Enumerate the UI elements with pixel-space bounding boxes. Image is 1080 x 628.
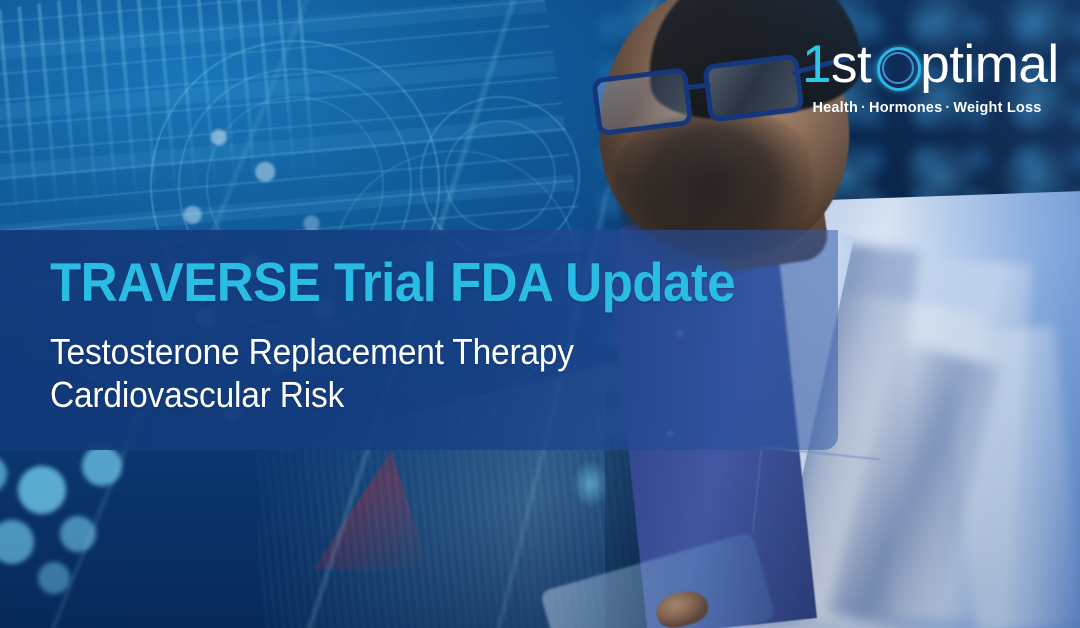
glasses-lens-left (591, 67, 693, 136)
page-subtitle: Testosterone Replacement Therapy Cardiov… (50, 330, 574, 416)
tagline-item-health: Health (812, 100, 858, 116)
hero-banner-image: 1stptimal Health·Hormones·Weight Loss TR… (0, 0, 1080, 628)
title-banner-panel: TRAVERSE Trial FDA Update Testosterone R… (0, 230, 838, 450)
page-subtitle-line-1: Testosterone Replacement Therapy (50, 330, 574, 373)
coat-pocket (752, 446, 880, 544)
page-title: TRAVERSE Trial FDA Update (50, 252, 735, 312)
logo-ordinal-suffix: st (831, 35, 871, 94)
brand-tagline: Health·Hormones·Weight Loss (802, 100, 1052, 116)
tagline-item-hormones: Hormones (869, 100, 942, 116)
logo-numeral: 1 (802, 35, 831, 94)
logo-word-rest: ptimal (920, 35, 1058, 94)
logo-wordmark: 1stptimal (802, 36, 1052, 94)
tagline-item-weight-loss: Weight Loss (953, 100, 1041, 116)
brand-logo[interactable]: 1stptimal Health·Hormones·Weight Loss (802, 36, 1052, 128)
title-banner-content: TRAVERSE Trial FDA Update Testosterone R… (50, 230, 838, 450)
logo-o-ring-icon (875, 45, 919, 91)
tagline-separator-icon: · (858, 100, 869, 116)
page-subtitle-line-2: Cardiovascular Risk (50, 373, 574, 416)
tagline-separator-icon: · (942, 100, 953, 116)
glasses-lens-right (702, 53, 804, 122)
